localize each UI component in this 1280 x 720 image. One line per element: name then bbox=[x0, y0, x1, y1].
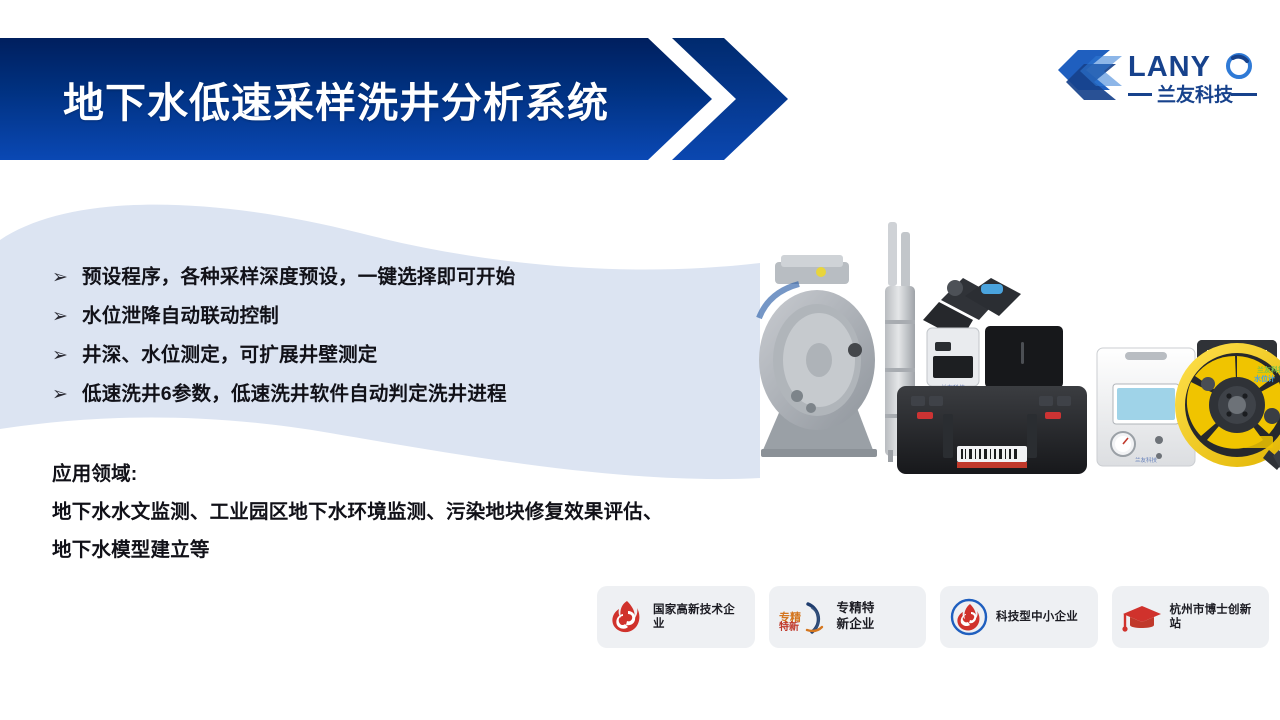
badge-label: 专精特 新企业 bbox=[837, 601, 875, 632]
svg-text:特新: 特新 bbox=[779, 620, 799, 633]
arrow-bullet-icon: ➢ bbox=[52, 340, 82, 370]
graduation-cap-icon bbox=[1121, 597, 1163, 637]
page-title: 地下水低速采样洗井分析系统 bbox=[63, 38, 609, 160]
badge-label: 科技型中小企业 bbox=[996, 610, 1078, 624]
list-item: ➢ 预设程序，各种采样深度预设，一键选择即可开始 bbox=[52, 262, 712, 301]
application-heading: 应用领域: bbox=[52, 455, 772, 493]
badge-label-line: 新企业 bbox=[837, 617, 875, 633]
badge-label: 杭州市博士创新站 bbox=[1170, 603, 1261, 632]
list-item-label: 井深、水位测定，可扩展井壁测定 bbox=[82, 340, 378, 370]
equipment-illustration: 兰友科技 bbox=[745, 200, 1280, 495]
list-item: ➢ 低速洗井6参数，低速洗井软件自动判定洗井进程 bbox=[52, 379, 712, 418]
application-line: 地下水水文监测、工业园区地下水环境监测、污染地块修复效果评估、 bbox=[52, 493, 772, 531]
badge-sme-tech: 科技型中小企业 bbox=[940, 586, 1098, 648]
arrow-bullet-icon: ➢ bbox=[52, 379, 82, 409]
lanyo-logo-icon: LANY 兰友科技 bbox=[1050, 42, 1265, 114]
application-line: 地下水模型建立等 bbox=[52, 531, 772, 569]
logo-cn-text: 兰友科技 bbox=[1157, 83, 1234, 106]
badge-label: 国家高新技术企业 bbox=[653, 603, 746, 632]
presentation-slide: 地下水低速采样洗井分析系统 LANY 兰友科技 bbox=[0, 0, 1280, 720]
title-banner: 地下水低速采样洗井分析系统 bbox=[0, 38, 790, 160]
list-item: ➢ 井深、水位测定，可扩展井壁测定 bbox=[52, 340, 712, 379]
svg-text:LANY: LANY bbox=[1128, 51, 1211, 83]
list-item-label: 低速洗井6参数，低速洗井软件自动判定洗井进程 bbox=[82, 379, 507, 409]
list-item-label: 水位泄降自动联动控制 bbox=[82, 301, 279, 331]
svg-text:水位计: 水位计 bbox=[1254, 374, 1275, 383]
badge-doctor-innovation-station: 杭州市博士创新站 bbox=[1112, 586, 1270, 648]
badge-national-high-tech: 国家高新技术企业 bbox=[597, 586, 755, 648]
list-item-label: 预设程序，各种采样深度预设，一键选择即可开始 bbox=[82, 262, 515, 292]
equipment-photo: 兰友科技 bbox=[745, 200, 1280, 495]
application-areas-block: 应用领域: 地下水水文监测、工业园区地下水环境监测、污染地块修复效果评估、 地下… bbox=[52, 455, 772, 569]
svg-text:兰友科技: 兰友科技 bbox=[1257, 365, 1280, 374]
badge-label-line: 专精特 bbox=[837, 601, 875, 617]
sme-tech-circle-icon bbox=[949, 597, 989, 637]
arrow-bullet-icon: ➢ bbox=[52, 301, 82, 331]
badge-specialized-new: 专精 特新 专精特 新企业 bbox=[769, 586, 927, 648]
high-tech-flame-icon bbox=[606, 597, 646, 637]
specialized-new-icon: 专精 特新 bbox=[778, 597, 830, 637]
arrow-bullet-icon: ➢ bbox=[52, 262, 82, 292]
svg-text:兰友科技: 兰友科技 bbox=[1135, 456, 1158, 464]
certification-badges: 国家高新技术企业 专精 特新 专精特 新企业 bbox=[597, 586, 1269, 648]
feature-bullet-list: ➢ 预设程序，各种采样深度预设，一键选择即可开始 ➢ 水位泄降自动联动控制 ➢ … bbox=[52, 262, 712, 418]
brand-logo: LANY 兰友科技 bbox=[1050, 42, 1265, 114]
list-item: ➢ 水位泄降自动联动控制 bbox=[52, 301, 712, 340]
black-instrument-case: 兰友科技 bbox=[897, 278, 1087, 474]
grey-cable-reel bbox=[759, 255, 877, 457]
